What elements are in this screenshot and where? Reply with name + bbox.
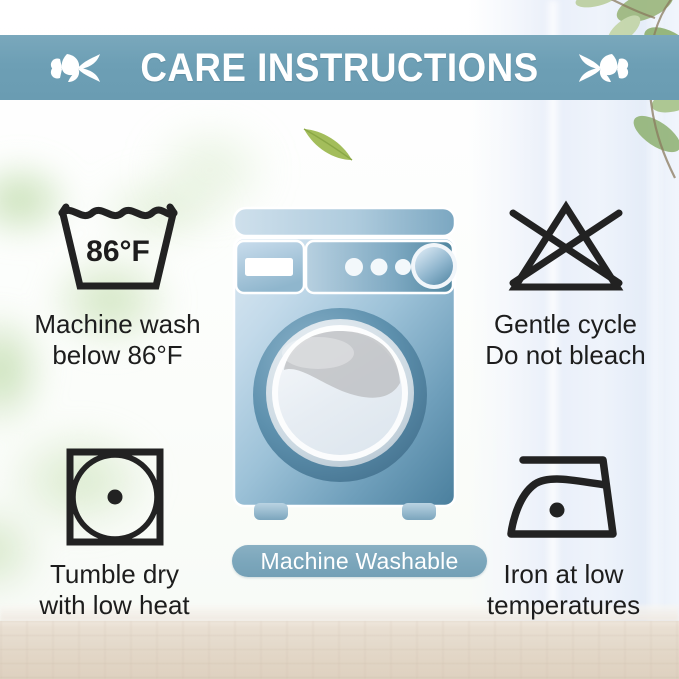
machine-top-lid [234, 208, 455, 236]
fleur-de-lis-icon [47, 47, 101, 89]
machine-washable-badge: Machine Washable [232, 545, 487, 577]
care-symbol-tumble-dry: Tumble dry with low heat [12, 445, 217, 620]
triangle-crossed-bleach-icon [505, 199, 627, 295]
indicator-dot [371, 259, 388, 276]
control-knob[interactable] [415, 247, 453, 285]
machine-wash-glyph: 86°F [10, 195, 225, 299]
table-wood-grain [0, 621, 679, 679]
care-symbol-caption: Machine wash below 86°F [10, 309, 225, 370]
care-symbol-iron: Iron at low temperatures [456, 445, 671, 620]
do-not-bleach-glyph [458, 195, 673, 299]
machine-foot [254, 503, 288, 520]
care-symbol-caption: Gentle cycle Do not bleach [458, 309, 673, 370]
front-load-washing-machine-icon [222, 205, 467, 535]
badge-label: Machine Washable [261, 550, 459, 573]
care-symbol-do-not-bleach: Gentle cycle Do not bleach [458, 195, 673, 370]
care-symbol-machine-wash: 86°F Machine wash below 86°F [10, 195, 225, 370]
wash-tub-icon: 86°F [56, 201, 180, 293]
indicator-dot [345, 258, 363, 276]
washing-machine-illustration [222, 205, 467, 535]
detergent-drawer-slot [245, 258, 293, 276]
indicator-dot [395, 259, 411, 275]
wooden-table-surface [0, 621, 679, 679]
iron-glyph [456, 445, 671, 549]
header-banner: CARE INSTRUCTIONS [0, 35, 679, 100]
tumble-dry-glyph [12, 445, 217, 549]
care-symbol-caption: Tumble dry with low heat [12, 559, 217, 620]
care-symbol-caption: Iron at low temperatures [456, 559, 671, 620]
porthole-door-highlight [282, 337, 354, 369]
care-instructions-infographic: CARE INSTRUCTIONS 86°F Machine wash belo… [0, 0, 679, 679]
wash-temperature-label: 86°F [86, 235, 150, 268]
page-title: CARE INSTRUCTIONS [140, 48, 538, 88]
tumble-dry-square-circle-icon [65, 447, 165, 547]
fleur-de-lis-icon [578, 47, 632, 89]
iron-icon [501, 452, 627, 542]
machine-foot [402, 503, 436, 520]
